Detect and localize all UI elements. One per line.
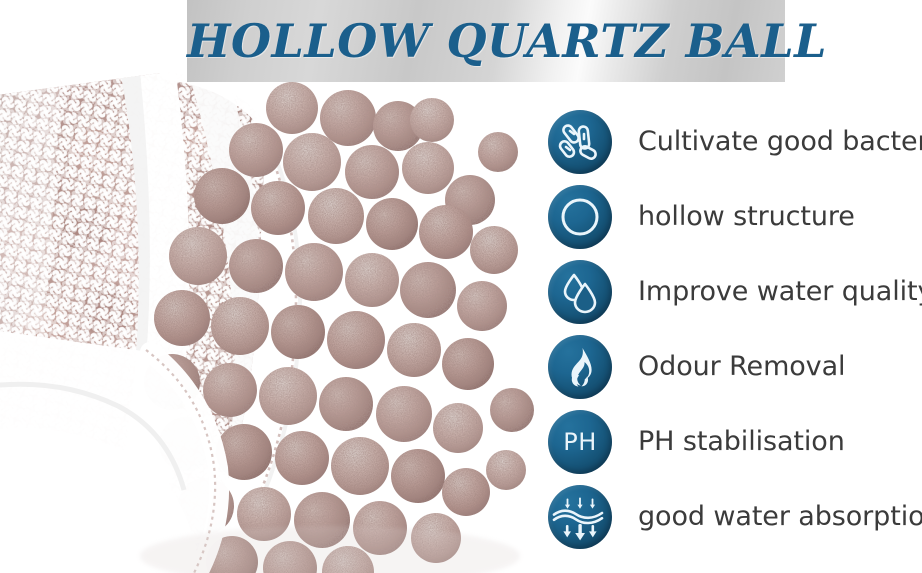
feature-row-odour-removal: Odour Removal bbox=[548, 329, 922, 404]
feature-label: Odour Removal bbox=[638, 352, 845, 382]
feature-row-improve-water-quality: Improve water quality bbox=[548, 254, 922, 329]
hollow-ring-icon bbox=[548, 185, 612, 249]
feature-row-hollow-structure: hollow structure bbox=[548, 179, 922, 254]
water-droplets-icon bbox=[548, 260, 612, 324]
feature-label: Cultivate good bacteria bbox=[638, 127, 922, 157]
feature-label: Improve water quality bbox=[638, 277, 922, 307]
water-absorption-icon bbox=[548, 485, 612, 549]
feature-label: hollow structure bbox=[638, 202, 855, 232]
feature-list: Cultivate good bacteria hollow structure… bbox=[548, 104, 922, 554]
page-title: HOLLOW QUARTZ BALL bbox=[187, 14, 785, 68]
bacteria-icon bbox=[548, 110, 612, 174]
ph-icon-label: PH bbox=[563, 430, 597, 454]
feature-row-good-water-absorption: good water absorption bbox=[548, 479, 922, 554]
feature-label: PH stabilisation bbox=[638, 427, 845, 457]
feature-row-ph-stabilisation: PH PH stabilisation bbox=[548, 404, 922, 479]
product-photo bbox=[0, 0, 540, 573]
product-photo-image bbox=[0, 0, 540, 573]
title-banner: HOLLOW QUARTZ BALL bbox=[187, 0, 785, 82]
feature-row-cultivate-good-bacteria: Cultivate good bacteria bbox=[548, 104, 922, 179]
feature-label: good water absorption bbox=[638, 502, 922, 532]
flame-icon bbox=[548, 335, 612, 399]
ph-icon: PH bbox=[548, 410, 612, 474]
